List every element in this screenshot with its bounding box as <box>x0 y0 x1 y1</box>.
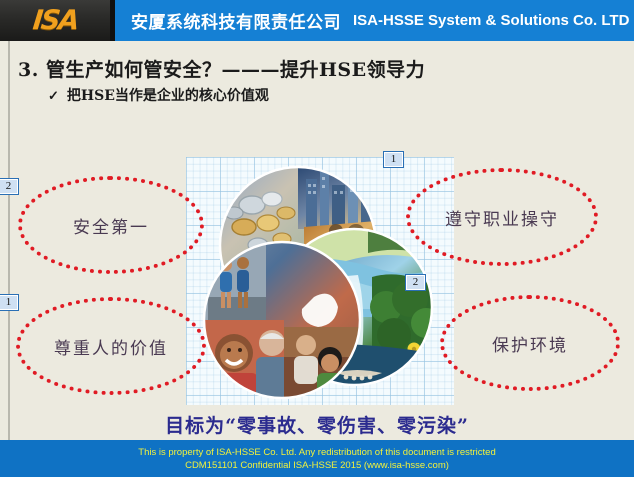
callout-label: 遵守职业操守 <box>445 205 559 230</box>
left-vertical-rule <box>8 41 10 440</box>
page-title: 3. 管生产如何管安全？———提升HSE领导力 <box>18 55 425 82</box>
footer-copyright-line: This is property of ISA-HSSE Co. Ltd. An… <box>138 446 495 459</box>
callout-human-value: 尊重人的价值 <box>16 297 206 395</box>
callout-label: 安全第一 <box>73 213 149 238</box>
annotation-badge-left-bottom[interactable]: 1 <box>0 294 19 311</box>
slide-body: 3. 管生产如何管安全？———提升HSE领导力 ✓把HSE当作是企业的核心价值观 <box>0 41 634 440</box>
company-name-cn: 安厦系统科技有限责任公司 <box>131 8 341 33</box>
annotation-badge-image-mid[interactable]: 2 <box>405 274 426 291</box>
annotation-badge-image-top[interactable]: 1 <box>383 151 404 168</box>
subtitle-row: ✓把HSE当作是企业的核心价值观 <box>48 85 269 105</box>
callout-label: 尊重人的价值 <box>54 334 168 359</box>
slide-footer: This is property of ISA-HSSE Co. Ltd. An… <box>0 440 634 477</box>
callout-protect-environment: 保护环境 <box>440 295 620 391</box>
goal-text: 目标为“零事故、零伤害、零污染” <box>0 411 634 438</box>
callout-professional-ethics: 遵守职业操守 <box>406 168 598 266</box>
slide: ISA 安厦系统科技有限责任公司 ISA-HSSE System & Solut… <box>0 0 634 477</box>
company-name-en: ISA-HSSE System & Solutions Co. LTD <box>353 12 629 29</box>
checkmark-icon: ✓ <box>48 89 59 104</box>
isa-logo: ISA <box>0 0 110 41</box>
annotation-badge-left-top[interactable]: 2 <box>0 178 19 195</box>
subtitle-text: 把HSE当作是企业的核心价值观 <box>67 88 269 104</box>
callout-safety-first: 安全第一 <box>18 176 204 274</box>
callout-label: 保护环境 <box>492 331 568 356</box>
isa-logo-icon: ISA <box>31 7 78 34</box>
footer-document-line: CDM151101 Confidential ISA-HSSE 2015 (ww… <box>185 459 449 472</box>
header-title-bar: 安厦系统科技有限责任公司 ISA-HSSE System & Solutions… <box>115 0 634 41</box>
slide-header: ISA 安厦系统科技有限责任公司 ISA-HSSE System & Solut… <box>0 0 634 41</box>
